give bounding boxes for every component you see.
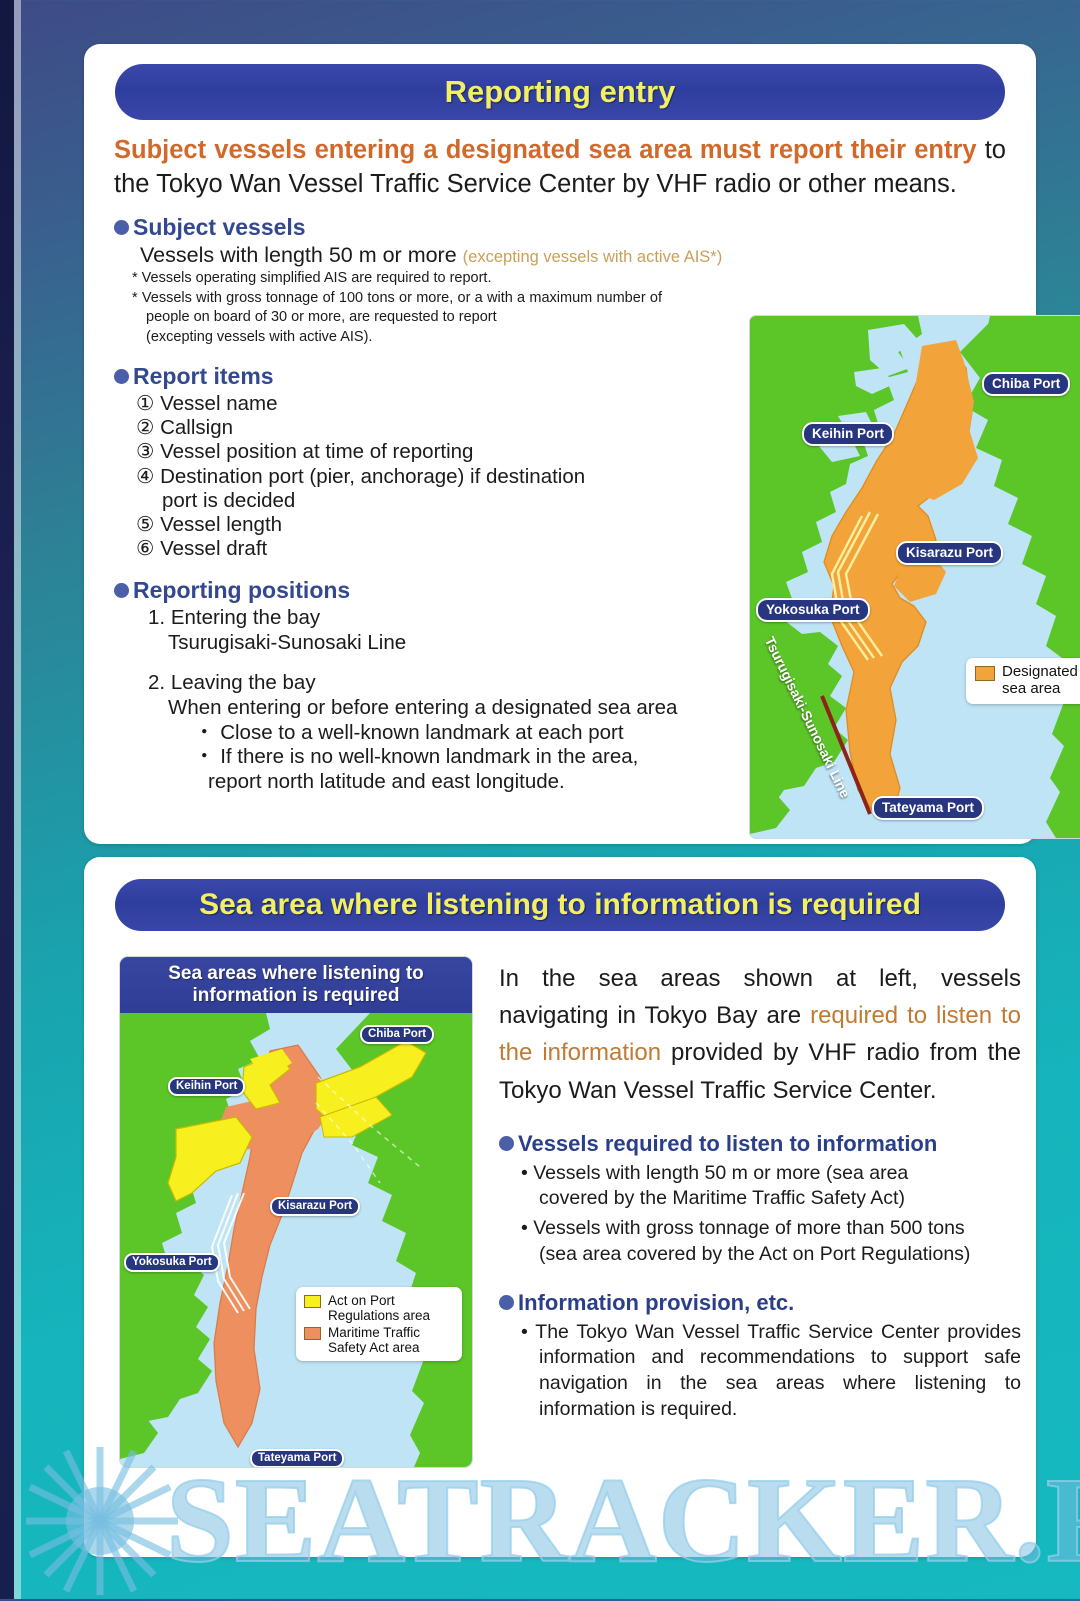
map2-title-line1: Sea areas where listening to — [168, 963, 424, 985]
bullet-dot-icon — [499, 1136, 514, 1151]
map-designated-sea-area: Chiba Port Keihin Port Kisarazu Port Yok… — [750, 316, 1080, 838]
asterisk-note-3: (excepting vessels with active AIS). — [132, 328, 662, 347]
listen-bullet: • Vessels with gross tonnage of more tha… — [521, 1216, 1021, 1267]
port-tag-yokosuka: Yokosuka Port — [124, 1253, 220, 1272]
lead-paragraph: Subject vessels entering a designated se… — [114, 134, 1006, 202]
reporting-entry-card: Reporting entry Subject vessels entering… — [84, 44, 1036, 844]
item-number: 2. — [148, 671, 165, 694]
subject-vessels-asterisk-notes: * Vessels operating simplified AIS are r… — [132, 269, 662, 347]
legend-item: Maritime Traffic Safety Act area — [304, 1325, 454, 1355]
item-text: Vessel position at time of reporting — [160, 440, 473, 463]
heading-vessels-required-listen-label: Vessels required to listen to informatio… — [518, 1131, 937, 1157]
asterisk-note-2: * Vessels with gross tonnage of 100 tons… — [132, 289, 662, 328]
item-text: Vessel draft — [160, 537, 267, 560]
port-tag-chiba: Chiba Port — [360, 1025, 434, 1044]
subject-vessels-main: Vessels with length 50 m or more (except… — [140, 243, 1036, 268]
map-listening-sea-areas: Chiba Port Keihin Port Kisarazu Port Yok… — [120, 957, 472, 1467]
listening-paragraph: In the sea areas shown at left, vessels … — [499, 960, 1021, 1109]
bullet-dot-icon — [114, 369, 129, 384]
legend-label-line2: Regulations area — [328, 1308, 430, 1323]
port-tag-yokosuka: Yokosuka Port — [756, 598, 870, 622]
legend-item: Designated sea area — [975, 664, 1078, 698]
item-number: ① — [136, 392, 154, 415]
asterisk-note-1: * Vessels operating simplified AIS are r… — [132, 269, 662, 288]
port-tag-chiba: Chiba Port — [982, 372, 1070, 396]
item-text: Callsign — [160, 416, 233, 439]
item-text: Leaving the bay — [171, 671, 316, 694]
legend-label-line2: Safety Act area — [328, 1340, 420, 1355]
map1-legend: Designated sea area — [966, 658, 1080, 704]
heading-subject-vessels-label: Subject vessels — [133, 214, 306, 241]
item-text: Entering the bay — [171, 606, 320, 629]
legend-swatch-salmon-icon — [304, 1327, 321, 1340]
heading-vessels-required-listen: Vessels required to listen to informatio… — [499, 1131, 1021, 1157]
item-number: 1. — [148, 606, 165, 629]
heading-report-items-label: Report items — [133, 363, 274, 390]
film-edge-strip — [0, 0, 14, 1599]
map2-title-lines: Sea areas where listening to information… — [168, 963, 424, 1007]
map2-title: Sea areas where listening to information… — [120, 957, 472, 1013]
bullet-dot-icon — [114, 583, 129, 598]
legend-label: Designated sea area — [1002, 664, 1078, 698]
item-number: ⑤ — [136, 513, 154, 536]
port-tag-kisarazu: Kisarazu Port — [896, 541, 1003, 565]
provision-bullet: • The Tokyo Wan Vessel Traffic Service C… — [521, 1320, 1021, 1423]
item-number: ③ — [136, 440, 154, 463]
legend-label-line2: sea area — [1002, 680, 1060, 697]
listen-bullet-text: • Vessels with gross tonnage of more tha… — [521, 1217, 965, 1239]
listen-bullet: • Vessels with length 50 m or more (sea … — [521, 1161, 1021, 1212]
lead-highlight: Subject vessels entering a designated se… — [114, 136, 977, 164]
banner-listening-required: Sea area where listening to information … — [115, 879, 1005, 931]
heading-subject-vessels: Subject vessels — [114, 214, 1036, 241]
legend-swatch-yellow-icon — [304, 1295, 321, 1308]
subject-vessels-note: (excepting vessels with active AIS*) — [463, 248, 723, 266]
listen-bullet-cont: (sea area covered by the Act on Port Reg… — [539, 1242, 1021, 1268]
heading-reporting-positions-label: Reporting positions — [133, 577, 350, 604]
legend-label-line1: Maritime Traffic — [328, 1325, 420, 1340]
film-edge-highlight — [14, 0, 21, 1599]
legend-swatch-orange-icon — [975, 666, 995, 681]
item-number: ④ — [136, 465, 154, 488]
legend-label-line1: Designated — [1002, 663, 1078, 680]
item-text: Destination port (pier, anchorage) if de… — [160, 465, 585, 488]
port-tag-tateyama: Tateyama Port — [250, 1449, 344, 1467]
bullet-dot-icon — [499, 1295, 514, 1310]
legend-label: Maritime Traffic Safety Act area — [328, 1325, 420, 1355]
port-tag-kisarazu: Kisarazu Port — [270, 1197, 360, 1216]
legend-item: Act on Port Regulations area — [304, 1293, 454, 1323]
listen-bullet-text: • Vessels with length 50 m or more (sea … — [521, 1162, 908, 1184]
heading-information-provision: Information provision, etc. — [499, 1290, 1021, 1316]
subject-vessels-main-text: Vessels with length 50 m or more — [140, 243, 457, 267]
item-number: ② — [136, 416, 154, 439]
banner-reporting-entry: Reporting entry — [115, 64, 1005, 120]
item-text: Vessel name — [160, 392, 277, 415]
legend-label-line1: Act on Port — [328, 1293, 395, 1308]
listening-info-column: In the sea areas shown at left, vessels … — [499, 960, 1021, 1423]
legend-label: Act on Port Regulations area — [328, 1293, 430, 1323]
bullet-dot-icon — [114, 220, 129, 235]
heading-information-provision-label: Information provision, etc. — [518, 1290, 794, 1316]
port-tag-tateyama: Tateyama Port — [872, 796, 984, 820]
listen-bullet-cont: covered by the Maritime Traffic Safety A… — [539, 1186, 1021, 1212]
item-number: ⑥ — [136, 537, 154, 560]
port-tag-keihin: Keihin Port — [802, 422, 894, 446]
item-text: Vessel length — [160, 513, 282, 536]
map2-title-line2: information is required — [168, 985, 424, 1007]
port-tag-keihin: Keihin Port — [168, 1077, 245, 1096]
map2-legend: Act on Port Regulations area Maritime Tr… — [296, 1287, 462, 1361]
